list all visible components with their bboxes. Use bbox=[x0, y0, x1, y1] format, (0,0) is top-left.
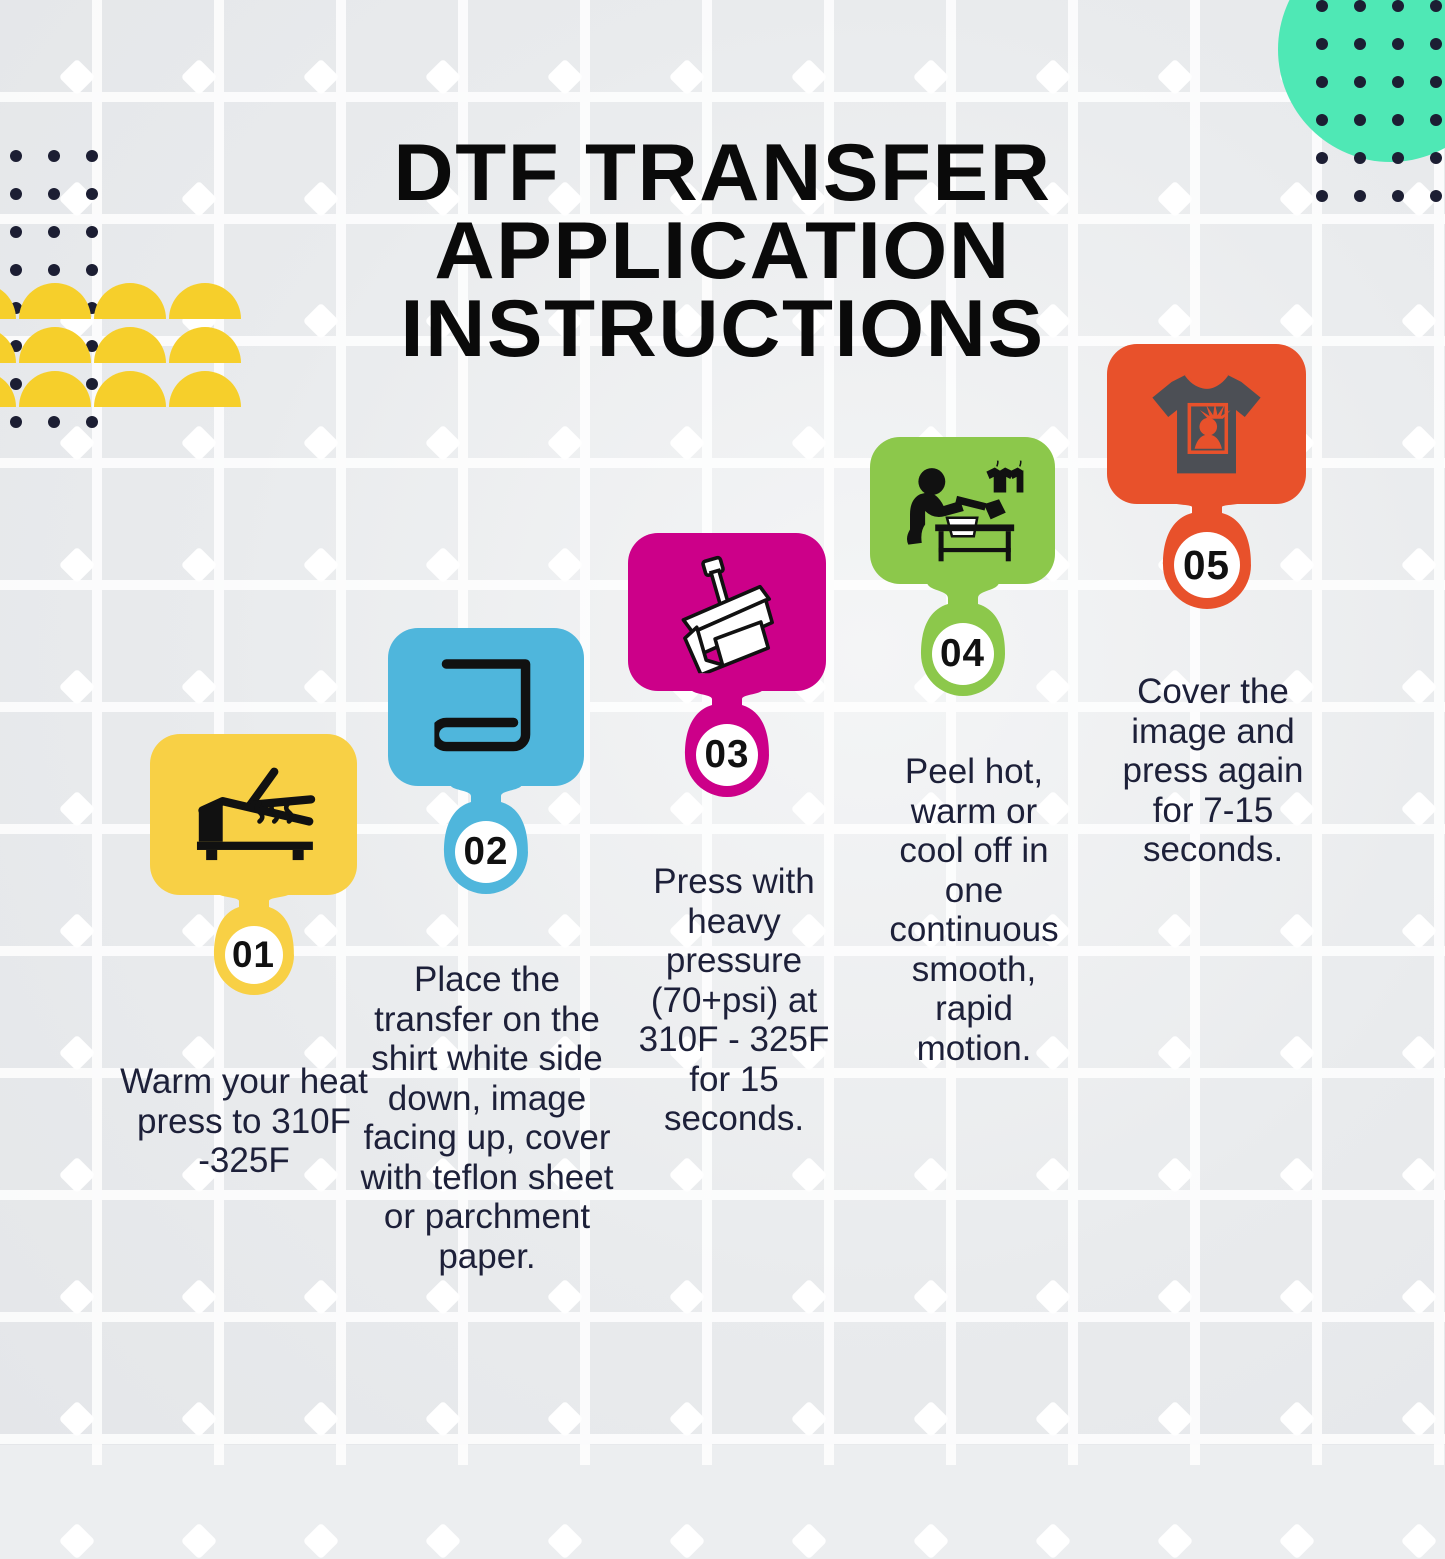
person-pressing-shirt-icon bbox=[902, 460, 1024, 561]
step-05-icon-wrap bbox=[1147, 369, 1266, 479]
step-01-icon-wrap bbox=[189, 764, 318, 865]
step-02-number: 02 bbox=[464, 830, 509, 874]
printed-tshirt-icon bbox=[1147, 369, 1266, 479]
step-02-number-badge[interactable]: 02 bbox=[444, 810, 528, 894]
step-04-caption: Peel hot, warm or cool off in one contin… bbox=[874, 752, 1074, 1068]
step-03-caption: Press with heavy pressure (70+psi) at 31… bbox=[621, 862, 847, 1139]
heat-press-open-icon bbox=[189, 764, 318, 865]
step-03-icon-card[interactable] bbox=[628, 533, 826, 691]
steps-container: 01Warm your heat press to 310F -325F02Pl… bbox=[0, 0, 1445, 1445]
step-03-number: 03 bbox=[705, 733, 750, 777]
step-01-caption: Warm your heat press to 310F -325F bbox=[112, 1062, 376, 1181]
step-05-caption: Cover the image and press again for 7-15… bbox=[1113, 672, 1313, 870]
step-04-number-badge[interactable]: 04 bbox=[921, 612, 1005, 696]
transfer-sheet-icon bbox=[434, 655, 537, 758]
step-04-icon-wrap bbox=[902, 460, 1024, 561]
heat-press-machine-icon bbox=[666, 551, 788, 673]
step-05-icon-card[interactable] bbox=[1107, 344, 1306, 504]
step-01-icon-card[interactable] bbox=[150, 734, 357, 895]
step-03-icon-wrap bbox=[666, 551, 788, 673]
step-02-icon-wrap bbox=[434, 655, 537, 758]
step-01-number: 01 bbox=[232, 934, 275, 976]
step-03-number-badge[interactable]: 03 bbox=[685, 713, 769, 797]
step-02-caption: Place the transfer on the shirt white si… bbox=[356, 960, 618, 1276]
step-02-icon-card[interactable] bbox=[388, 628, 584, 786]
step-04-icon-card[interactable] bbox=[870, 437, 1055, 584]
step-04-number: 04 bbox=[940, 632, 985, 676]
step-01-number-badge[interactable]: 01 bbox=[214, 915, 294, 995]
step-05-number-badge[interactable]: 05 bbox=[1163, 521, 1251, 609]
step-05-number: 05 bbox=[1183, 542, 1230, 589]
